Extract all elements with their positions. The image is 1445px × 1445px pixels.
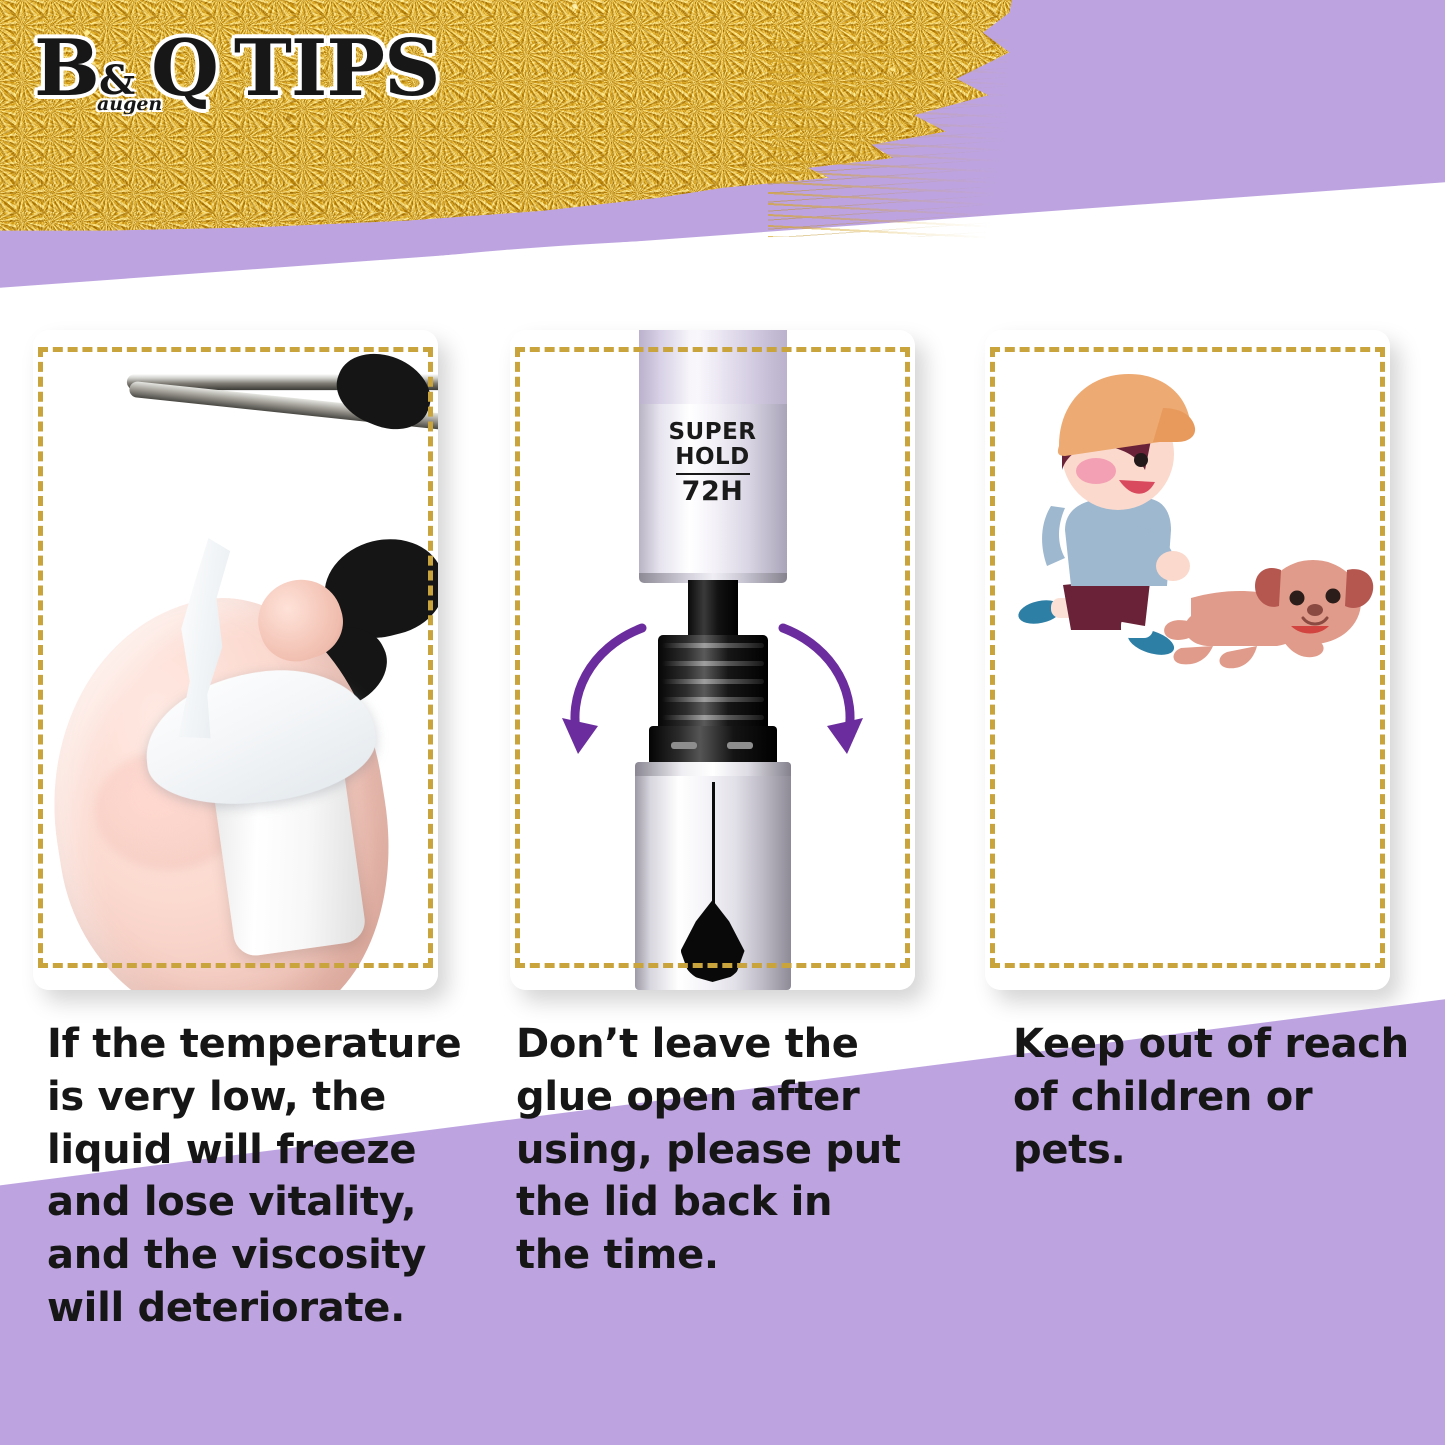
label-line-super: SUPER	[639, 420, 787, 445]
thread-ring-3	[662, 679, 764, 684]
logo-letter-b: B	[34, 32, 99, 107]
caption-row: If the temperature is very low, the liqu…	[0, 1018, 1445, 1418]
brand-logo: B & augen Q TIPS	[34, 32, 439, 107]
rotate-arrow-right-icon	[761, 622, 871, 772]
panel-close-lid: SUPER HOLD 72H	[510, 330, 915, 990]
panel-temperature	[33, 330, 438, 990]
caption-temperature: If the temperature is very low, the liqu…	[47, 1018, 467, 1335]
caption-keep-away: Keep out of reach of children or pets.	[1013, 1018, 1423, 1176]
tips-infographic: B & augen Q TIPS	[0, 0, 1445, 1445]
dog-figure	[1164, 560, 1373, 668]
label-divider	[676, 473, 750, 475]
thread-ring-2	[662, 661, 764, 666]
caption-close-lid: Don’t leave the glue open after using, p…	[516, 1018, 916, 1282]
collar-notch-left	[671, 742, 697, 749]
logo-sub-brand: augen	[97, 93, 162, 115]
bottle-label: SUPER HOLD 72H	[639, 420, 787, 506]
bottle-thread-neck	[658, 635, 768, 731]
logo-word-tips: TIPS	[234, 32, 440, 107]
glue-bottle-diagram: SUPER HOLD 72H	[510, 330, 915, 990]
thread-ring-5	[662, 715, 764, 720]
header-banner: B & augen Q TIPS	[0, 0, 1445, 300]
label-line-duration: 72H	[639, 477, 787, 506]
collar-notch-right	[727, 742, 753, 749]
glue-stretch-photo	[33, 330, 438, 990]
panel-row: SUPER HOLD 72H	[0, 330, 1445, 1010]
brush-stem	[688, 580, 738, 640]
rotate-arrow-left-icon	[554, 622, 664, 772]
child-and-dog-illustration	[985, 330, 1390, 990]
brush-applicator-line	[712, 782, 715, 912]
thread-ring-1	[662, 643, 764, 648]
panel-keep-away	[985, 330, 1390, 990]
cap-purple-tint	[639, 330, 787, 404]
thread-ring-4	[662, 697, 764, 702]
label-line-hold: HOLD	[639, 445, 787, 470]
bottle-cap: SUPER HOLD 72H	[639, 330, 787, 578]
boy-figure	[1016, 374, 1195, 660]
